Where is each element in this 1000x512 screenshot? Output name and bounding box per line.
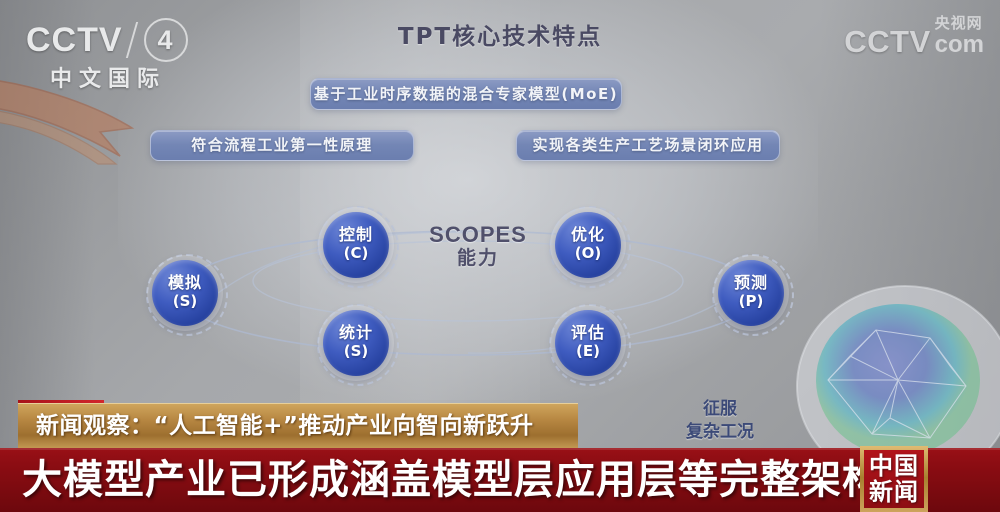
cctv4-subtitle: 中文国际 xyxy=(26,69,226,91)
headline-bar-highlight xyxy=(0,448,1000,450)
node-control-cn: 控制 xyxy=(339,227,373,244)
lower-third-topic-bar: 新闻观察：“人工智能+”推动产业向智向新跃升 xyxy=(18,403,578,450)
node-simulate: 模拟 (S) xyxy=(152,260,218,326)
program-badge-line1: 中国 xyxy=(869,453,919,479)
node-optimize: 优化 (O) xyxy=(555,212,621,278)
node-control: 控制 (C) xyxy=(323,212,389,278)
broadcast-frame: CCTV 4 中文国际 CCTV 央视网 com TPT核心技术特点 基于工业时… xyxy=(0,0,1000,512)
program-badge-line2: 新闻 xyxy=(869,479,919,505)
node-predict-cn: 预测 xyxy=(734,275,768,292)
slide-side-caption: 征服 复杂工况 xyxy=(660,398,780,444)
program-badge-inner: 中国 新闻 xyxy=(864,450,924,508)
node-evaluate-en: (E) xyxy=(576,343,600,360)
lower-third-headline-text: 大模型产业已形成涵盖模型层应用层等完整架构 xyxy=(22,460,883,500)
slide-side-caption-line2: 复杂工况 xyxy=(660,421,780,444)
slide-side-caption-line1: 征服 xyxy=(660,398,780,421)
node-predict-en: (P) xyxy=(739,293,764,310)
scopes-center-title: SCOPES xyxy=(398,223,558,247)
program-badge: 中国 新闻 xyxy=(860,446,928,512)
lower-third-topic-text: 新闻观察：“人工智能+”推动产业向智向新跃升 xyxy=(18,415,534,438)
node-predict: 预测 (P) xyxy=(718,260,784,326)
scopes-capability-diagram: 模拟 (S) 控制 (C) 优化 (O) 预测 (P) 统计 (S) 评估 (E… xyxy=(118,185,838,395)
node-control-en: (C) xyxy=(344,245,369,262)
node-statistics-en: (S) xyxy=(344,343,369,360)
node-simulate-cn: 模拟 xyxy=(168,275,202,292)
node-evaluate-cn: 评估 xyxy=(571,325,605,342)
node-evaluate: 评估 (E) xyxy=(555,310,621,376)
node-optimize-en: (O) xyxy=(575,245,601,262)
slide-title: TPT核心技术特点 xyxy=(0,26,1000,49)
feature-pill-closed-loop: 实现各类生产工艺场景闭环应用 xyxy=(516,130,780,161)
scopes-center-subtitle: 能力 xyxy=(398,247,558,271)
feature-pill-moe: 基于工业时序数据的混合专家模型(MoE) xyxy=(310,78,622,110)
node-simulate-en: (S) xyxy=(173,293,198,310)
lower-third-headline-bar: 大模型产业已形成涵盖模型层应用层等完整架构 xyxy=(0,448,1000,512)
node-statistics-cn: 统计 xyxy=(339,325,373,342)
node-optimize-cn: 优化 xyxy=(571,227,605,244)
node-statistics: 统计 (S) xyxy=(323,310,389,376)
scopes-center-label: SCOPES 能力 xyxy=(398,223,558,271)
feature-pill-first-principle: 符合流程工业第一性原理 xyxy=(150,130,414,161)
